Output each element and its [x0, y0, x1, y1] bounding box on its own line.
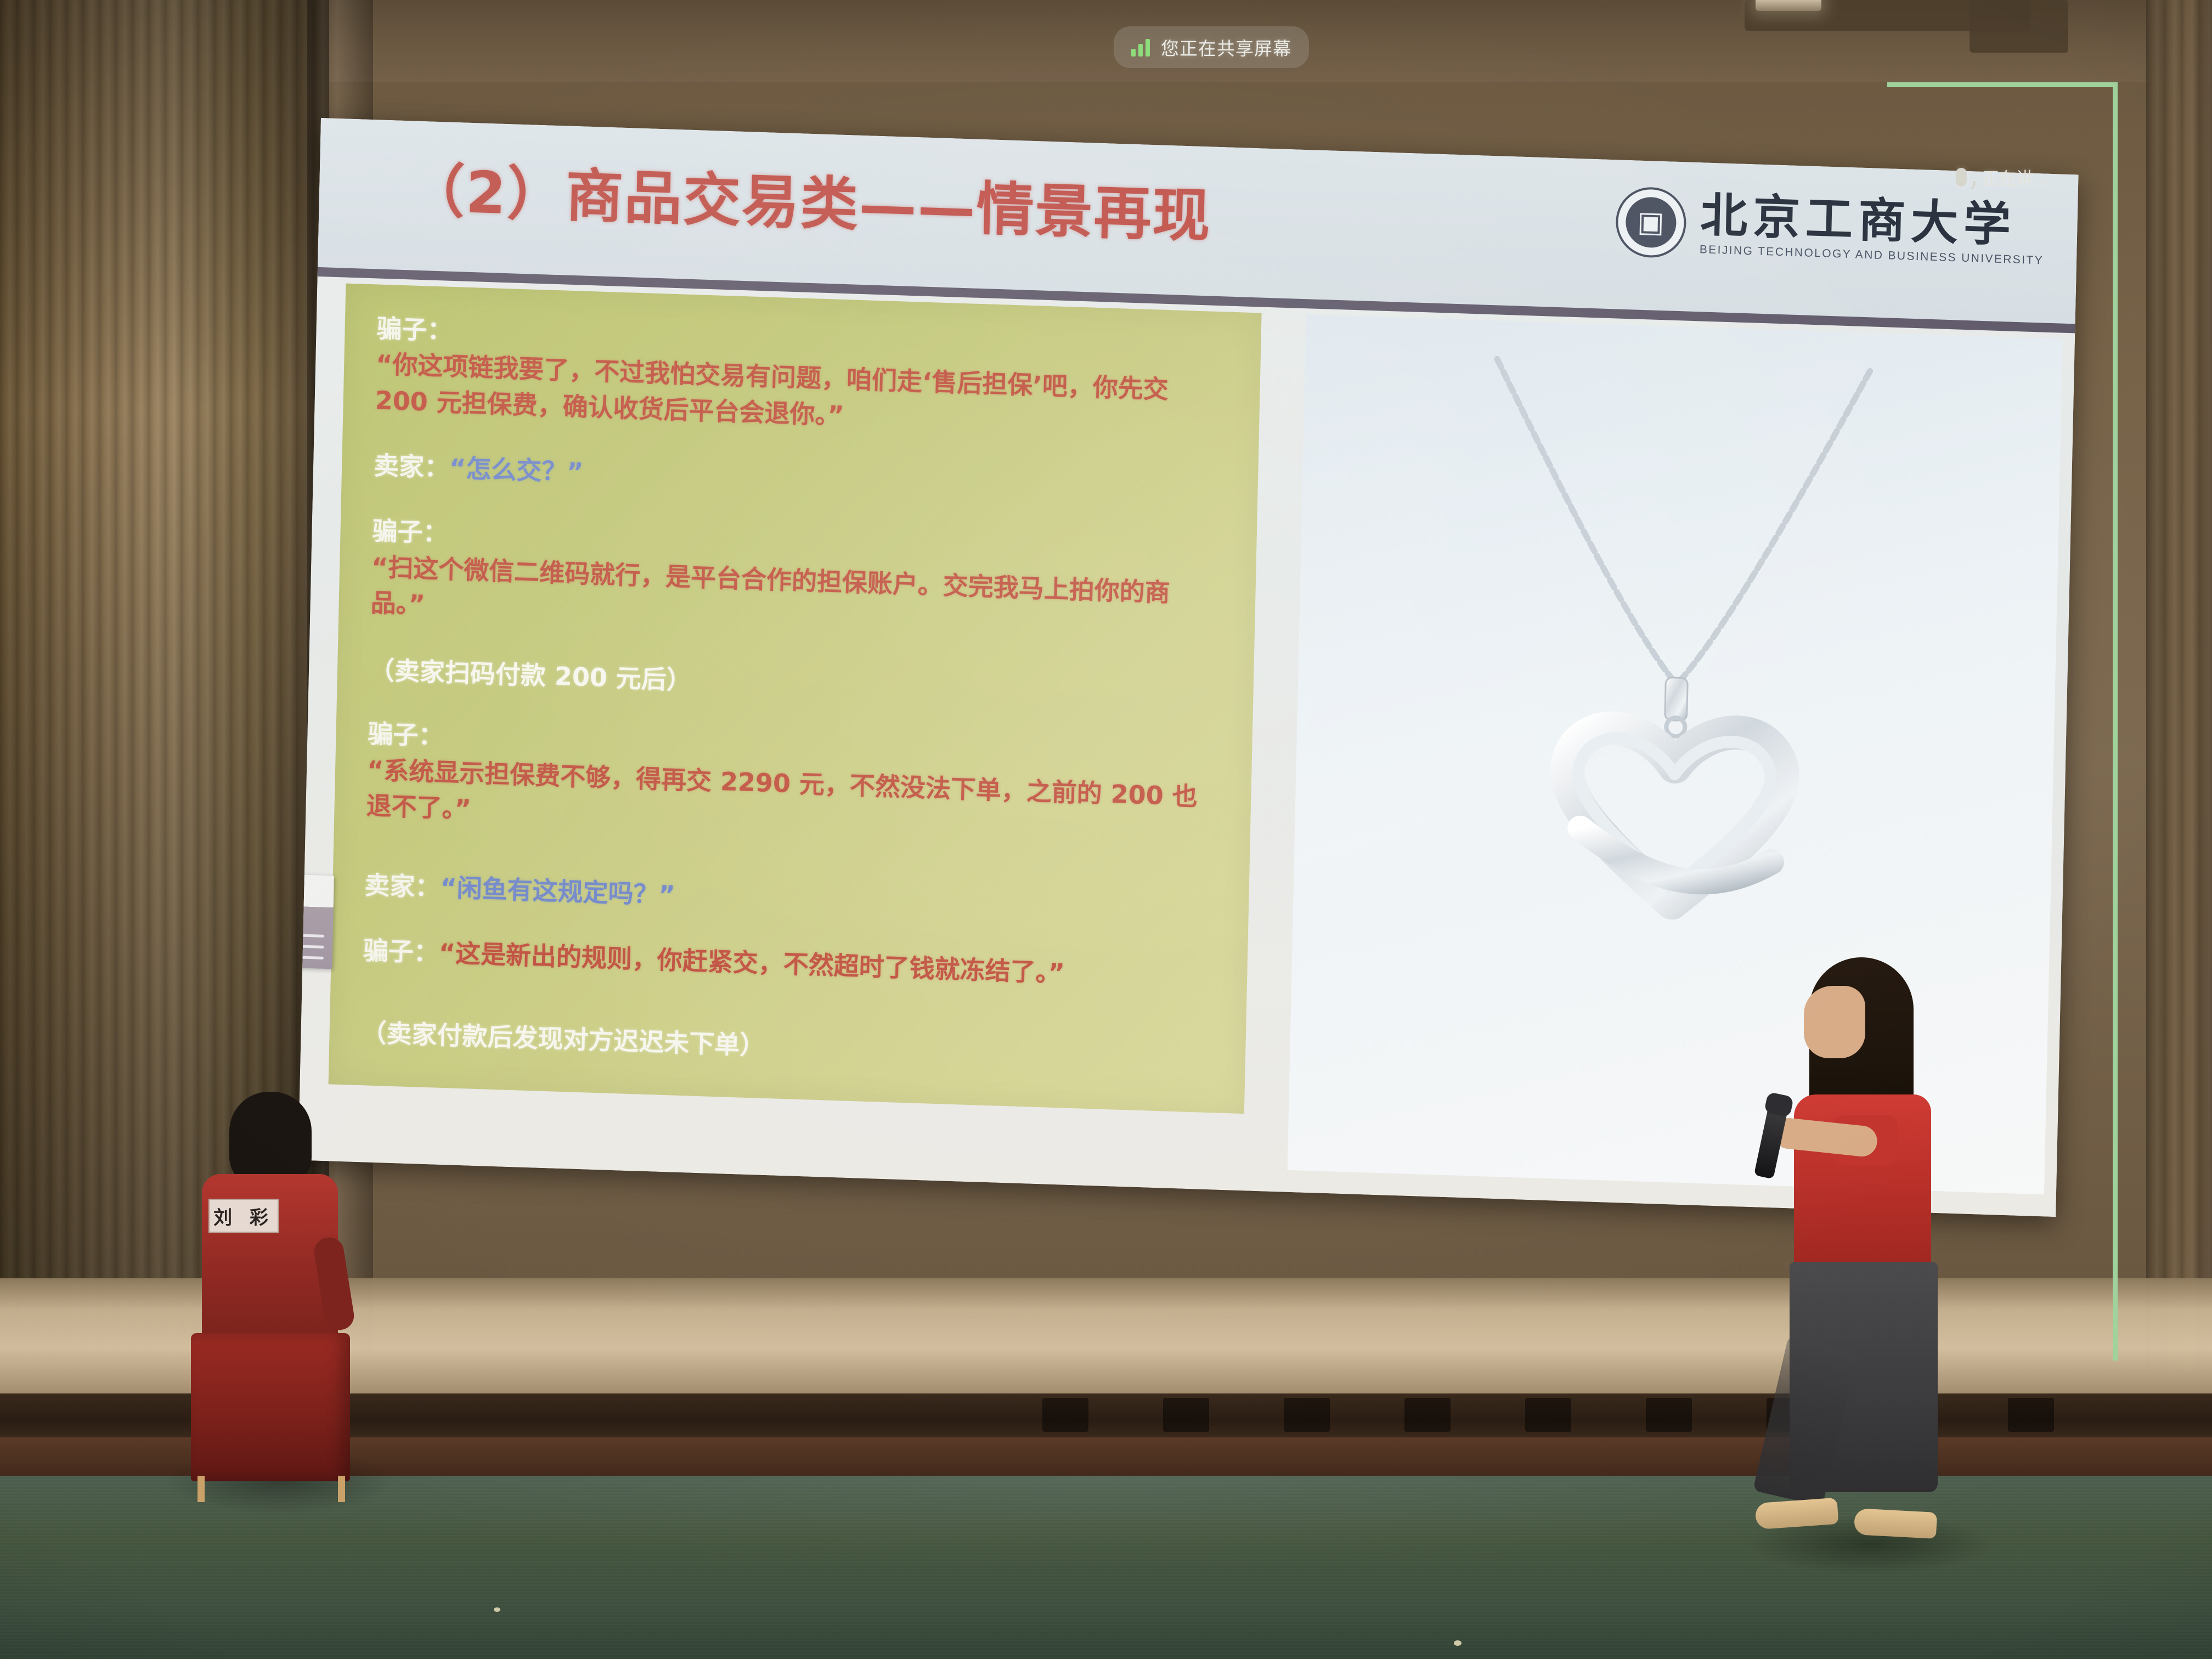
stool-leg — [198, 1476, 205, 1502]
btbu-seal-icon: ▣ — [1615, 186, 1687, 258]
dialogue-panel: 骗子： “你这项链我要了，不过我怕交易有问题，咱们走‘售后担保’吧，你先交 20… — [329, 284, 1262, 1114]
red-draped-stool — [191, 1333, 350, 1481]
dialogue-stage-note: （卖家扫码付款 200 元后） — [369, 651, 1222, 714]
signal-bars-icon — [1131, 38, 1150, 57]
ceiling-fixture — [1970, 0, 2068, 53]
dialogue-speaker: 卖家： — [364, 867, 441, 906]
microphone-icon — [1956, 168, 1967, 187]
dialogue-quote: “怎么交？” — [449, 450, 584, 490]
dialogue-line: 卖家： “闲鱼有这规定吗？” — [364, 867, 1217, 930]
speaking-label: 正在讲… — [1982, 165, 2050, 189]
dialogue-quote: “你这项链我要了，不过我怕交易有问题，咱们走‘售后担保’吧，你先交 200 元担… — [375, 347, 1228, 446]
seated-performer: 刘 彩 — [181, 1092, 362, 1487]
slide-side-mini-panel — [298, 874, 334, 969]
stage-curtain-right — [2146, 0, 2212, 1372]
dialogue-line: 骗子： “扫这个微信二维码就行，是平台合作的担保账户。交完我马上拍你的商品。” — [370, 513, 1225, 648]
stool-leg — [338, 1476, 345, 1502]
dialogue-speaker: 骗子： — [376, 311, 453, 349]
university-name-cn: 北京工商大学 — [1700, 191, 2045, 251]
dialogue-quote: “系统显示担保费不够，得再交 2290 元，不然没法下单，之前的 200 也退不… — [366, 752, 1220, 851]
dialogue-quote: “这是新出的规则，你赶紧交，不然超时了钱就冻结了。” — [438, 935, 1065, 991]
dialogue-line: 骗子： “这是新出的规则，你赶紧交，不然超时了钱就冻结了。” — [363, 933, 1216, 996]
dialogue-quote: “扫这个微信二维码就行，是平台合作的担保账户。交完我马上拍你的商品。” — [370, 549, 1224, 648]
photo-scene: （2）商品交易类——情景再现 ▣ 北京工商大学 BEIJING TECHNOLO… — [0, 0, 2212, 1659]
dialogue-line: 骗子： “你这项链我要了，不过我怕交易有问题，咱们走‘售后担保’吧，你先交 20… — [375, 311, 1229, 445]
dialogue-quote: “闲鱼有这规定吗？” — [440, 870, 676, 913]
university-logo: ▣ 北京工商大学 BEIJING TECHNOLOGY AND BUSINESS… — [1615, 186, 2045, 270]
dialogue-line: 卖家： “怎么交？” — [373, 448, 1226, 511]
heart-pendant-necklace-icon — [1461, 342, 1892, 1013]
dialogue-speaker: 卖家： — [373, 448, 449, 486]
dialogue-stage-note: （卖家付款后发现对方迟迟未下单） — [361, 1013, 1214, 1076]
name-tag: 刘 彩 — [208, 1199, 279, 1233]
standing-person-face — [1804, 986, 1865, 1058]
ceiling-spotlight — [1756, 0, 1821, 11]
standing-person-shoe — [1755, 1498, 1839, 1530]
dialogue-speaker: 骗子： — [368, 716, 444, 754]
dialogue-speaker: 骗子： — [372, 513, 448, 552]
speaking-indicator: 正在讲… — [1956, 165, 2109, 189]
screen-share-banner[interactable]: 您正在共享屏幕 — [1114, 26, 1309, 68]
dialogue-line: 骗子： “系统显示担保费不够，得再交 2290 元，不然没法下单，之前的 200… — [366, 716, 1221, 851]
dialogue-speaker: 骗子： — [363, 933, 439, 972]
standing-person-shoe — [1854, 1508, 1937, 1539]
screen-share-label: 您正在共享屏幕 — [1161, 34, 1291, 60]
standing-presenter — [1739, 957, 1970, 1539]
